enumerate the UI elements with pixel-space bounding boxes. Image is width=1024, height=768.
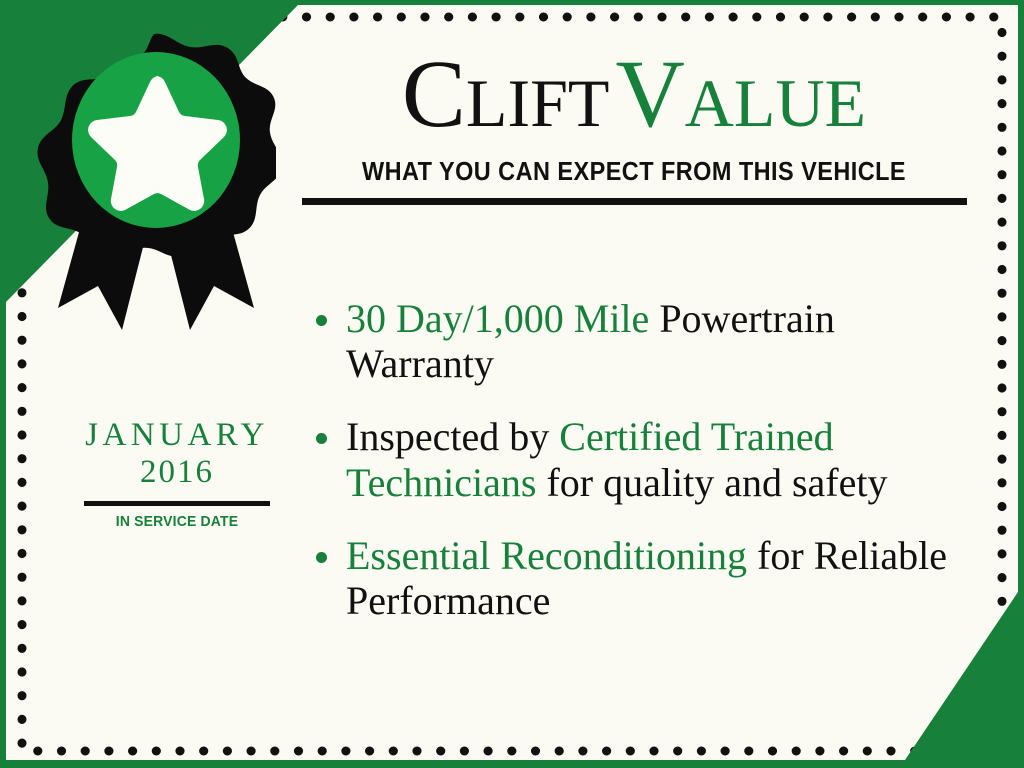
award-ribbon-star-badge-icon — [36, 18, 276, 338]
brand-word1-rest: LIFT — [466, 65, 610, 141]
in-service-date-block: JANUARY 2016 IN SERVICE DATE — [62, 418, 292, 530]
header-divider-rule — [302, 198, 967, 205]
brand-title: CLIFTVALUE — [300, 46, 968, 142]
bullet-dot-icon — [316, 315, 327, 326]
list-item: Inspected by Certified Trained Technicia… — [306, 414, 966, 504]
list-item: 30 Day/1,000 Mile Powertrain Warranty — [306, 296, 966, 386]
bullet-dot-icon — [316, 433, 327, 444]
header: CLIFTVALUE WHAT YOU CAN EXPECT FROM THIS… — [300, 46, 968, 205]
service-date-year: 2016 — [62, 453, 292, 492]
list-item: Essential Reconditioning for Reliable Pe… — [306, 533, 966, 623]
service-date-divider-rule — [84, 501, 270, 506]
brand-word2-cap: V — [615, 40, 684, 147]
clift-value-certificate: CLIFTVALUE WHAT YOU CAN EXPECT FROM THIS… — [0, 0, 1024, 768]
bullet-3-green-1: Essential Reconditioning — [346, 533, 747, 578]
header-subtitle: WHAT YOU CAN EXPECT FROM THIS VEHICLE — [327, 158, 942, 187]
brand-word1-cap: C — [402, 40, 466, 147]
bullet-dot-icon — [316, 552, 327, 563]
bullet-2-black-1: Inspected by — [346, 414, 559, 459]
bullet-2-black-2: for quality and safety — [536, 460, 887, 505]
service-date-caption: IN SERVICE DATE — [70, 513, 284, 530]
benefits-list: 30 Day/1,000 Mile Powertrain Warranty In… — [306, 296, 966, 623]
service-date-month: JANUARY — [62, 418, 292, 453]
bullet-1-green-1: 30 Day/1,000 Mile — [346, 296, 649, 341]
brand-word2-rest: ALUE — [685, 65, 866, 141]
